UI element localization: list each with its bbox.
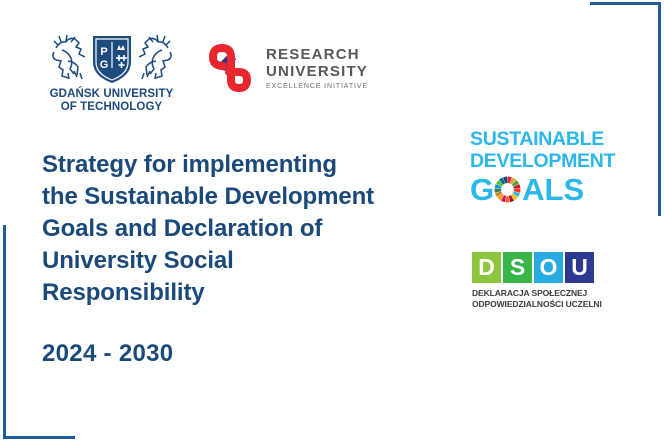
top-right-vertical-rule (658, 2, 661, 216)
gut-wordmark: GDAŃSK UNIVERSITY OF TECHNOLOGY (50, 88, 174, 114)
sustainable-development-goals-logo: SUSTAINABLE DEVELOPMENT G ALS (470, 130, 605, 205)
research-university-line1: RESEARCH (266, 47, 368, 62)
sdg-line-2: DEVELOPMENT (470, 152, 605, 172)
sdg-line-3: G ALS (470, 174, 605, 205)
sdg-goals-suffix: ALS (522, 174, 584, 205)
gdansk-university-of-technology-logo: P G GDAŃSK UNIVERSITY OF TECHNOLOGY (44, 28, 179, 114)
research-university-line2: UNIVERSITY (266, 64, 368, 79)
research-university-logo: RESEARCH UNIVERSITY EXCELLENCE INITIATIV… (203, 40, 368, 96)
date-range: 2024 - 2030 (42, 340, 173, 368)
page-title: Strategy for implementing the Sustainabl… (42, 149, 432, 309)
gut-crest-icon: P G (48, 28, 176, 86)
gut-wordmark-line1: GDAŃSK UNIVERSITY (50, 88, 174, 100)
svg-text:G: G (99, 59, 108, 71)
sdg-line-1: SUSTAINABLE (470, 130, 605, 150)
headline-line-1: Strategy for implementing (42, 149, 432, 181)
logo-bar: P G GDAŃSK UNIVERSITY OF TECHNOLOGY (44, 28, 368, 114)
dsou-tile-u: U (565, 252, 594, 283)
headline-line-3: Goals and Declaration of (42, 213, 432, 245)
dsou-caption-line2: ODPOWIEDZIALNOŚCI UCZELNI (472, 299, 602, 309)
dsou-tiles: DSOU (472, 252, 594, 283)
dsou-tile-s: S (503, 252, 532, 283)
gut-wordmark-line2: OF TECHNOLOGY (61, 101, 163, 113)
headline-line-4: University Social (42, 245, 432, 277)
research-university-line3: EXCELLENCE INITIATIVE (266, 83, 368, 90)
dsou-logo: DSOU DEKLARACJA SPOŁECZNEJ ODPOWIEDZIALN… (472, 252, 594, 310)
dsou-caption-line1: DEKLARACJA SPOŁECZNEJ (472, 288, 587, 298)
bottom-left-horizontal-rule (3, 436, 75, 439)
bottom-left-vertical-rule (3, 225, 6, 439)
research-university-mark-icon (203, 40, 257, 96)
svg-text:P: P (100, 46, 107, 58)
research-university-text: RESEARCH UNIVERSITY EXCELLENCE INITIATIV… (266, 47, 368, 90)
sdg-goals-prefix: G (470, 174, 494, 205)
sdg-color-wheel-icon (494, 176, 521, 203)
headline-line-5: Responsibility (42, 277, 432, 309)
dsou-tile-o: O (534, 252, 563, 283)
presentation-slide: P G GDAŃSK UNIVERSITY OF TECHNOLOGY (0, 0, 664, 442)
top-right-horizontal-rule (590, 2, 661, 5)
dsou-tile-d: D (472, 252, 501, 283)
headline-line-2: the Sustainable Development (42, 181, 432, 213)
dsou-caption: DEKLARACJA SPOŁECZNEJ ODPOWIEDZIALNOŚCI … (472, 288, 594, 310)
